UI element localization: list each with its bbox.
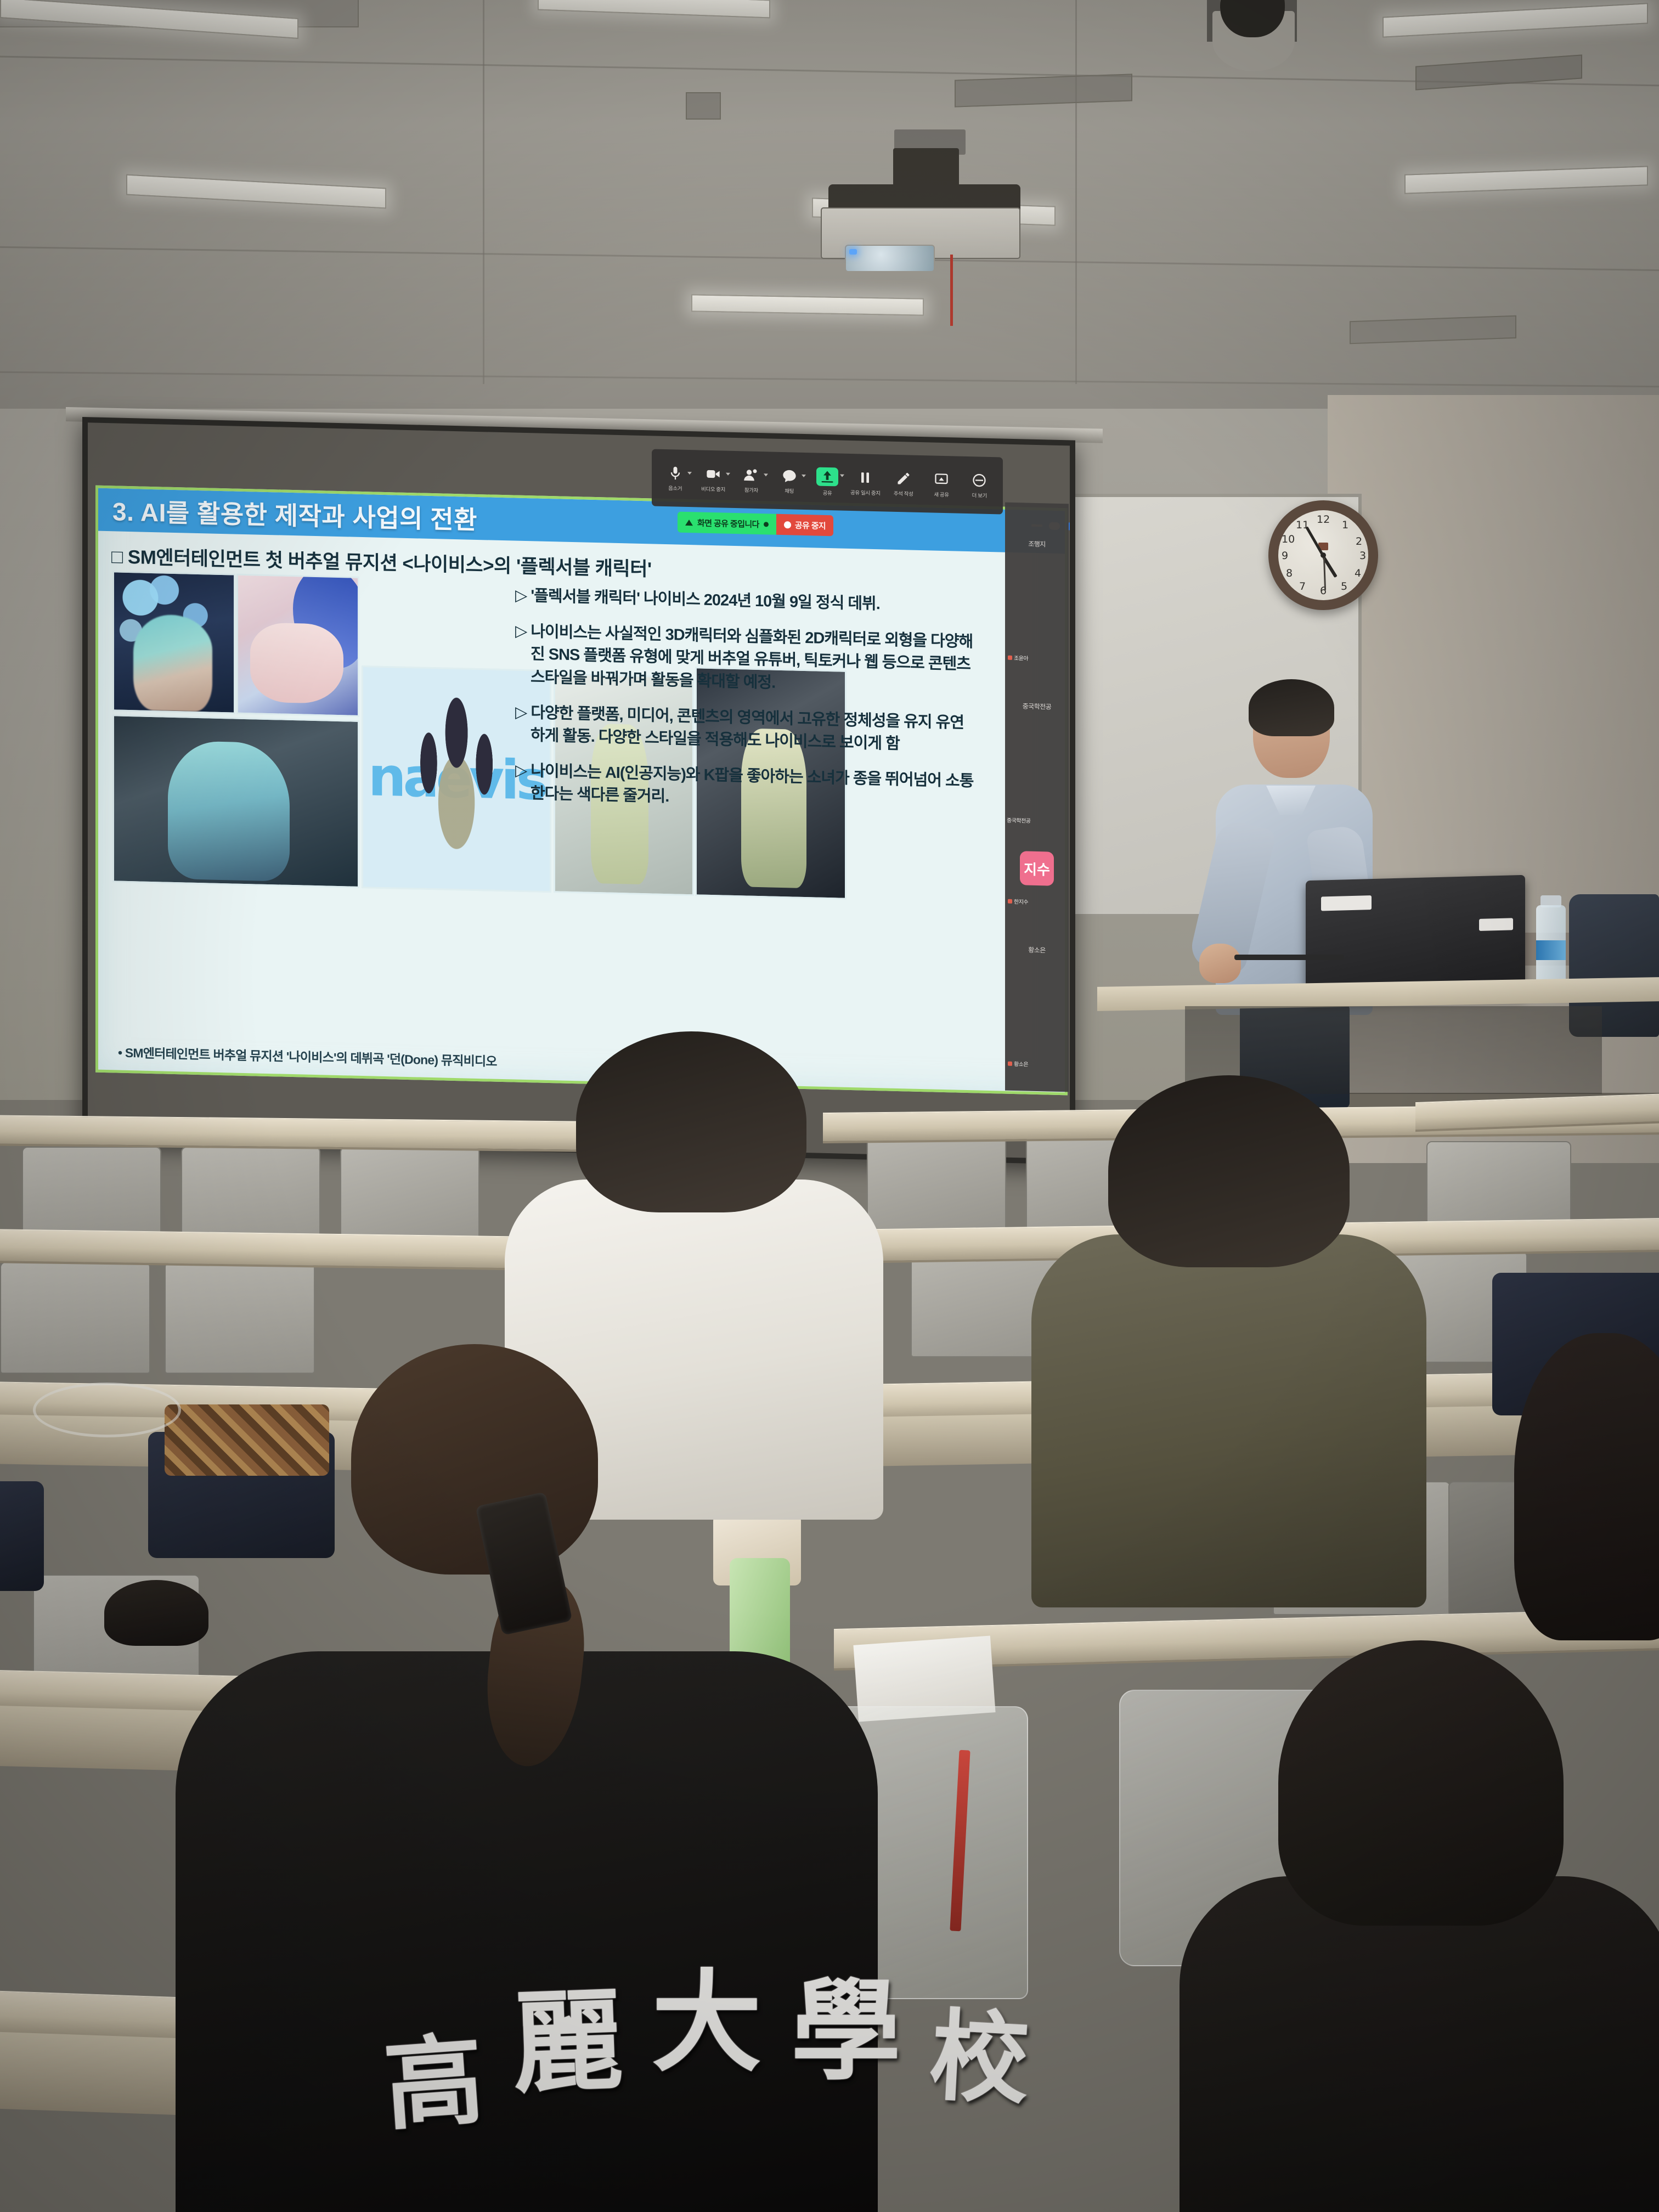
chevron-down-icon[interactable] <box>802 474 806 477</box>
jacket-char: 學 <box>791 1942 903 2101</box>
chevron-down-icon[interactable] <box>726 472 730 475</box>
wall-clock: 12 1 2 3 4 5 6 7 8 9 10 11 <box>1268 500 1378 610</box>
slide-footnote: • SM엔터테인먼트 버추얼 뮤지션 '나이비스'의 데뷔곡 '던(Done) … <box>118 1044 502 1070</box>
audience-torso <box>1031 1234 1426 1607</box>
audience-hair <box>104 1580 208 1646</box>
jacket-char: 校 <box>927 1975 1035 2123</box>
clock-number: 3 <box>1356 550 1369 562</box>
participant-name-badge: 한지수 <box>1008 897 1028 906</box>
zoom-share-status-bar[interactable]: 화면 공유 중입니다 공유 중지 <box>678 511 833 537</box>
ceiling-camera <box>1196 0 1339 77</box>
zoom-control-label: 비디오 중지 <box>701 484 725 493</box>
zoom-control-label: 음소거 <box>668 484 682 492</box>
video-camera-icon <box>704 465 723 482</box>
participant-tile[interactable]: 황소은 <box>1005 990 1069 1073</box>
participant-tile[interactable]: 중국학전공 <box>1005 746 1069 829</box>
participant-tile[interactable]: 조윤아 <box>1005 584 1069 667</box>
zoom-control-label: 새 공유 <box>934 490 949 498</box>
ceiling-seam <box>1075 0 1077 384</box>
participant-name-badge: 조윤아 <box>1008 653 1028 662</box>
chevron-down-icon[interactable] <box>764 473 768 476</box>
ceiling-vent <box>1350 315 1516 345</box>
participant-tile-active[interactable]: 지수 한지수 <box>1005 827 1069 910</box>
zoom-sharing-indicator[interactable]: 화면 공유 중입니다 <box>678 512 776 535</box>
projector-led-indicator <box>849 249 857 255</box>
ceiling <box>0 0 1659 417</box>
clock-face: 12 1 2 3 4 5 6 7 8 9 10 11 <box>1278 510 1368 600</box>
projection-screen: 3. AI를 활용한 제작과 사업의 전환 □ SM엔터테인먼트 첫 버추얼 뮤… <box>82 417 1075 1165</box>
participant-center-name: 황소은 <box>1028 945 1046 955</box>
ceiling-seam <box>483 0 484 384</box>
ceiling-speaker <box>686 92 721 120</box>
audience-hair <box>1278 1640 1564 1926</box>
annotate-pencil-icon <box>894 470 913 487</box>
microphone-icon <box>666 465 685 482</box>
participant-tile[interactable]: 중국학전공 <box>1005 665 1069 748</box>
presentation-slide: 3. AI를 활용한 제작과 사업의 전환 □ SM엔터테인먼트 첫 버추얼 뮤… <box>95 486 1068 1096</box>
clock-number: 9 <box>1278 550 1291 562</box>
clock-center-pin <box>1321 552 1326 558</box>
clock-number: 1 <box>1339 519 1352 531</box>
new-share-icon <box>932 471 951 488</box>
ceiling-seam <box>0 56 1659 87</box>
jacket-char: 大 <box>652 1933 764 2092</box>
screen-surface: 3. AI를 활용한 제작과 사업의 전환 □ SM엔터테인먼트 첫 버추얼 뮤… <box>88 422 1070 1159</box>
zoom-control-label: 참가자 <box>744 486 758 494</box>
ceiling-light <box>1383 3 1648 37</box>
lecture-hall-scene: 12 1 2 3 4 5 6 7 8 9 10 11 3. AI를 활용한 제작… <box>0 0 1659 2212</box>
image-naevis-dance <box>112 714 359 888</box>
muted-mic-icon <box>1008 1061 1012 1065</box>
chevron-down-icon[interactable] <box>840 474 844 477</box>
status-dot-icon <box>764 522 769 527</box>
stop-dot-icon <box>784 521 791 528</box>
clock-number: 7 <box>1296 580 1309 592</box>
bottle-label <box>1536 940 1566 960</box>
chevron-down-icon[interactable] <box>687 472 692 475</box>
projector-mount-bracket <box>893 148 959 187</box>
jacket-char: 麗 <box>510 1951 627 2114</box>
classroom-chair[interactable] <box>867 1130 1006 1231</box>
slide-bullet: ▷ 나이비스는 사실적인 3D캐릭터와 심플화된 2D캐릭터로 외형을 다양해진… <box>515 620 976 699</box>
participant-name: 한지수 <box>1014 897 1028 906</box>
participant-name-badge: 황소은 <box>1008 1059 1028 1068</box>
participant-tile[interactable]: 황소은 <box>1005 909 1069 991</box>
jacket-university-text: 高 麗 大 學 校 <box>329 1937 1086 2211</box>
audience-hair <box>576 1031 806 1212</box>
audience-hair <box>1108 1075 1350 1267</box>
zoom-control-more[interactable]: 더 보기 <box>961 471 998 499</box>
bag <box>0 1481 44 1591</box>
slide-bullet: ▷ '플렉서블 캐릭터' 나이비스 2024년 10월 9일 정식 데뷔. <box>515 585 976 618</box>
zoom-control-chat[interactable]: 채팅 <box>770 467 808 495</box>
zoom-control-pause-share[interactable]: 공유 일시 중지 <box>847 469 884 496</box>
slide-bullet: ▷ 다양한 플랫폼, 미디어, 콘텐츠의 영역에서 고유한 정체성을 유지 유연… <box>515 701 976 757</box>
slide-bullet-list: ▷ '플렉서블 캐릭터' 나이비스 2024년 10월 9일 정식 데뷔. ▷ … <box>515 585 976 829</box>
clock-number: 6 <box>1317 585 1330 597</box>
classroom-chair[interactable] <box>0 1262 150 1374</box>
chat-bubble-icon <box>780 467 799 484</box>
image-naevis-3d-render <box>112 571 235 714</box>
ceiling-light <box>691 294 924 315</box>
participant-center-name: 조행지 <box>1028 539 1046 549</box>
presenter-hair <box>1249 679 1334 736</box>
ceiling-vent <box>1415 54 1582 90</box>
zoom-control-label: 더 보기 <box>972 491 987 499</box>
zoom-control-annotate[interactable]: 주석 작성 <box>884 470 922 498</box>
avatar: 지수 <box>1020 851 1054 885</box>
ceiling-light <box>1404 166 1648 194</box>
zoom-meeting-toolbar[interactable]: 음소거 비디오 중지 참가자 <box>652 449 1003 514</box>
ceiling-seam <box>0 371 1659 387</box>
zoom-control-mute[interactable]: 음소거 <box>656 464 694 492</box>
presenter-left-hand <box>1199 944 1241 983</box>
ceiling-vent <box>955 74 1132 107</box>
clock-number: 4 <box>1351 567 1364 579</box>
muted-mic-icon <box>1008 899 1012 903</box>
zoom-control-label: 주석 작성 <box>894 489 913 497</box>
ceiling-light <box>126 174 386 209</box>
clock-number: 5 <box>1338 580 1351 592</box>
slide-bullet: ▷ 나이비스는 AI(인공지능)와 K팝을 좋아하는 소녀가 종을 뛰어넘어 소… <box>515 760 976 816</box>
clock-number: 10 <box>1282 533 1295 545</box>
laptop-sticker <box>1479 918 1513 931</box>
muted-mic-icon <box>1008 655 1012 659</box>
zoom-control-label: 채팅 <box>785 487 794 494</box>
zoom-sharing-label: 화면 공유 중입니다 <box>697 517 759 530</box>
participant-tile[interactable]: 조행지 <box>1005 503 1069 585</box>
audience-hair <box>1514 1333 1659 1640</box>
zoom-control-participants[interactable]: 참가자 <box>732 466 770 494</box>
participants-icon <box>742 466 760 483</box>
naevis-figures <box>399 689 515 885</box>
zoom-participant-rail[interactable]: 조행지 조윤아 중국학전공 중국학전공 지수 <box>1005 503 1069 1092</box>
image-naevis-2d-illustration <box>236 574 359 717</box>
microphone-icon <box>685 519 693 525</box>
zoom-control-stop-video[interactable]: 비디오 중지 <box>694 465 732 493</box>
clock-number: 8 <box>1283 567 1296 579</box>
participant-name: 조윤아 <box>1014 653 1028 662</box>
zoom-control-new-share[interactable]: 새 공유 <box>922 471 960 499</box>
plaid-bag <box>165 1404 329 1476</box>
screen-share-icon <box>816 467 838 486</box>
participant-center-name: 중국학전공 <box>1023 701 1052 711</box>
projector-cable <box>950 255 953 326</box>
participant-name: 중국학전공 <box>1007 816 1031 825</box>
ceiling-light <box>538 0 770 18</box>
clock-number: 12 <box>1317 513 1330 526</box>
more-options-icon <box>970 472 989 489</box>
audience-hair <box>351 1344 598 1575</box>
cable-on-desk <box>1234 955 1344 960</box>
zoom-control-label: 공유 일시 중지 <box>850 488 881 496</box>
slide-title: 3. AI를 활용한 제작과 사업의 전환 <box>98 492 477 537</box>
ceiling-projector <box>812 137 1042 274</box>
classroom-chair[interactable] <box>340 1147 479 1248</box>
classroom-chair[interactable] <box>165 1262 315 1374</box>
cable-coil <box>33 1383 181 1437</box>
participant-name: 황소은 <box>1014 1059 1028 1068</box>
zoom-stop-share-label: 공유 중지 <box>795 519 826 531</box>
zoom-control-share[interactable]: 공유 <box>808 467 846 497</box>
participant-name-badge: 중국학전공 <box>1007 816 1031 825</box>
zoom-stop-share-button[interactable]: 공유 중지 <box>776 514 833 536</box>
pause-icon <box>856 469 874 486</box>
audience-torso <box>1180 1876 1659 2212</box>
jacket-char: 高 <box>379 1999 490 2149</box>
laptop-sticker <box>1321 895 1372 911</box>
projector-lens <box>845 245 935 272</box>
clock-number: 2 <box>1352 535 1365 548</box>
zoom-control-label: 공유 <box>823 488 832 496</box>
